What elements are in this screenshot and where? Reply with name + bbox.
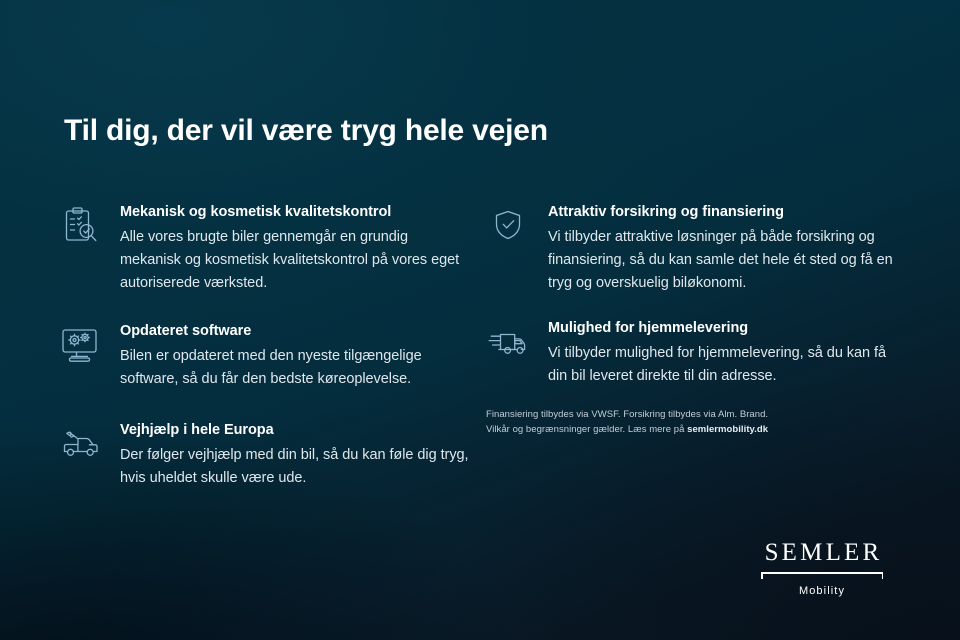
feature-body: Vi tilbyder mulighed for hjemmelevering,… — [548, 342, 898, 388]
feature-column-right: Attraktiv forsikring og finansiering Vi … — [486, 203, 898, 414]
logo-rule-cap-left — [761, 572, 763, 579]
feature-title: Opdateret software — [120, 322, 470, 341]
logo-rule-cap-right — [882, 572, 884, 579]
feature-body: Alle vores brugte biler gennemgår en gru… — [120, 226, 470, 295]
logo-subtitle: Mobility — [742, 584, 902, 598]
disclaimer-line-1: Finansiering tilbydes via VWSF. Forsikri… — [486, 408, 866, 423]
disclaimer-line-2: Vilkår og begrænsninger gælder. Læs mere… — [486, 423, 866, 438]
monitor-gears-icon — [58, 324, 104, 368]
feature-title: Vejhjælp i hele Europa — [120, 421, 470, 440]
delivery-van-icon — [486, 321, 532, 365]
feature-title: Attraktiv forsikring og finansiering — [548, 203, 898, 222]
semler-mobility-logo: SEMLER Mobility — [742, 539, 902, 598]
feature-body: Bilen er opdateret med den nyeste tilgæn… — [120, 345, 470, 391]
feature-item-insurance-financing: Attraktiv forsikring og finansiering Vi … — [486, 203, 898, 295]
disclaimer-text: Finansiering tilbydes via VWSF. Forsikri… — [486, 408, 866, 437]
feature-column-left: Mekanisk og kosmetisk kvalitetskontrol A… — [58, 203, 470, 514]
slide-root: Til dig, der vil være tryg hele vejen — [0, 0, 960, 640]
semlermobility-link[interactable]: semlermobility.dk — [687, 424, 768, 435]
page-title: Til dig, der vil være tryg hele vejen — [64, 113, 548, 149]
tow-truck-icon — [58, 423, 104, 467]
feature-item-roadside-assistance: Vejhjælp i hele Europa Der følger vejhjæ… — [58, 421, 470, 490]
feature-title: Mekanisk og kosmetisk kvalitetskontrol — [120, 203, 470, 222]
feature-item-quality-control: Mekanisk og kosmetisk kvalitetskontrol A… — [58, 203, 470, 295]
feature-title: Mulighed for hjemmelevering — [548, 319, 898, 338]
shield-check-icon — [486, 205, 532, 249]
logo-wordmark: SEMLER — [742, 539, 902, 567]
slide-content: Til dig, der vil være tryg hele vejen — [0, 0, 960, 640]
feature-item-home-delivery: Mulighed for hjemmelevering Vi tilbyder … — [486, 319, 898, 388]
logo-divider-rule — [761, 572, 883, 580]
feature-body: Vi tilbyder attraktive løsninger på både… — [548, 226, 898, 295]
feature-item-software: Opdateret software Bilen er opdateret me… — [58, 322, 470, 391]
clipboard-magnifier-icon — [58, 205, 104, 249]
disclaimer-line-2-prefix: Vilkår og begrænsninger gælder. Læs mere… — [486, 424, 687, 435]
feature-body: Der følger vejhjælp med din bil, så du k… — [120, 444, 470, 490]
